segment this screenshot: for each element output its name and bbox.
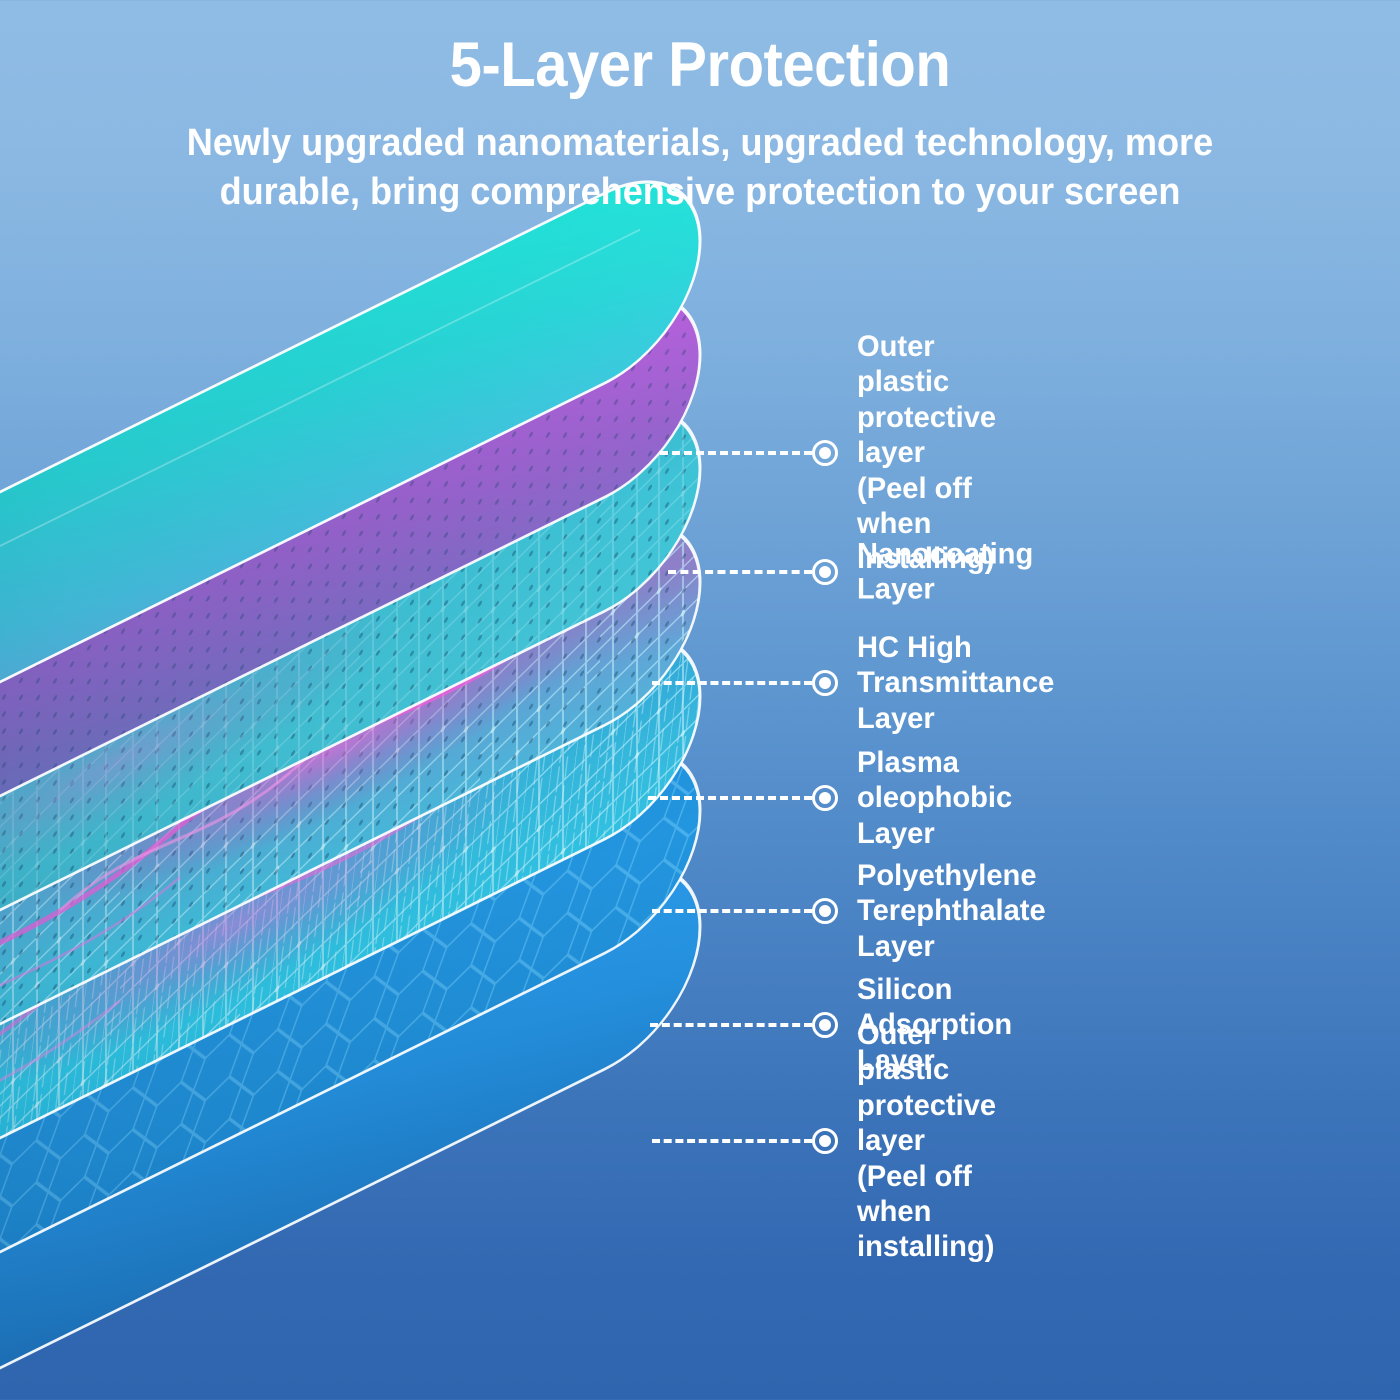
leader-line-silicon-adsorption <box>650 1023 812 1027</box>
leader-line-plasma-oleophobic <box>648 796 812 800</box>
callout-marker-icon-hc-high-transmittance <box>812 670 838 696</box>
leader-line-outer-plastic-bottom <box>652 1139 812 1143</box>
leader-line-polyethylene-terephthalate <box>652 909 812 913</box>
callout-list: Outer plastic protective layer (Peel off… <box>0 0 1400 1400</box>
leader-line-nanocoating <box>668 570 812 574</box>
callout-label-plasma-oleophobic: Plasma oleophobic Layer <box>857 745 1012 851</box>
callout-marker-icon-plasma-oleophobic <box>812 785 838 811</box>
callout-label-hc-high-transmittance: HC High Transmittance Layer <box>857 630 1054 736</box>
callout-marker-icon-outer-plastic-bottom <box>812 1128 838 1154</box>
callout-marker-icon-silicon-adsorption <box>812 1012 838 1038</box>
callout-marker-icon-polyethylene-terephthalate <box>812 898 838 924</box>
callout-label-outer-plastic-bottom: Outer plastic protective layer (Peel off… <box>857 1017 996 1265</box>
callout-label-polyethylene-terephthalate: Polyethylene Terephthalate Layer <box>857 858 1046 964</box>
callout-label-nanocoating: Nanocoating Layer <box>857 537 1033 608</box>
callout-marker-icon-nanocoating <box>812 559 838 585</box>
leader-line-hc-high-transmittance <box>652 681 812 685</box>
leader-line-outer-plastic-top <box>660 451 812 455</box>
callout-marker-icon-outer-plastic-top <box>812 440 838 466</box>
